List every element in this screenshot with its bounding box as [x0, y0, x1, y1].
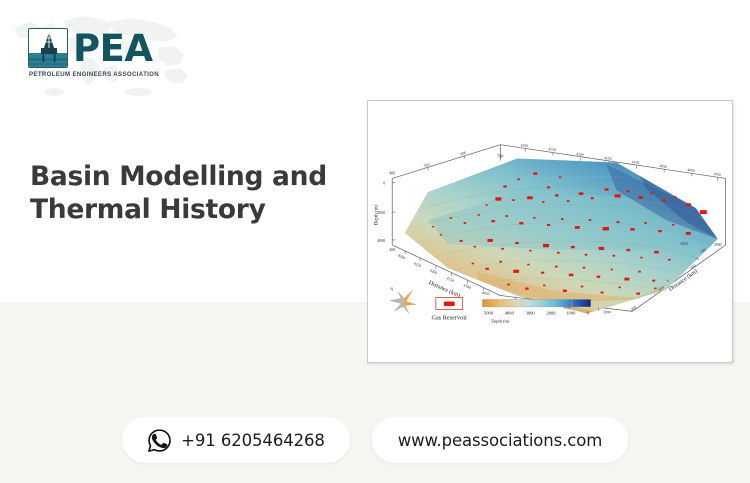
logo-wordmark: PEA: [73, 30, 153, 67]
basin-depth-surface-figure[interactable]: 0 2000 4000 Depth (m) 400 400 700 500 60…: [367, 100, 733, 363]
right-corner-label-mid: 3950: [680, 242, 688, 246]
whatsapp-icon: [147, 428, 172, 453]
svg-text:N: N: [390, 287, 393, 292]
website-url-text: www.peassociations.com: [398, 431, 603, 450]
page-title-line-2: Thermal History: [30, 193, 360, 226]
website-link-button[interactable]: www.peassociations.com: [372, 417, 628, 463]
offshore-oil-rig-icon: [28, 28, 68, 68]
z-axis-label: Depth (m): [374, 205, 379, 226]
page-title: Basin Modelling and Thermal History: [30, 160, 360, 226]
svg-text:3900: 3900: [603, 310, 611, 315]
gas-reservoir-legend: Gas Reservoir: [431, 297, 467, 321]
svg-text:4000: 4000: [377, 238, 385, 243]
right-corner-label-top: 3900: [714, 243, 722, 247]
svg-text:0: 0: [383, 180, 385, 185]
back-corner-label: 700: [497, 154, 503, 159]
z-top-corner-label: 400: [389, 170, 395, 175]
svg-text:2000: 2000: [546, 310, 556, 315]
surface-plot-svg: 0 2000 4000 Depth (m) 400 400 700 500 60…: [368, 101, 732, 362]
svg-text:5000: 5000: [484, 310, 494, 315]
svg-text:3000: 3000: [526, 310, 536, 315]
page-title-line-1: Basin Modelling and: [30, 160, 360, 193]
svg-text:4000: 4000: [505, 310, 515, 315]
logo-subtitle: PETROLEUM ENGINEERS ASSOCIATION: [29, 71, 178, 78]
colorbar-label: Depth (m): [491, 318, 510, 323]
svg-text:1000: 1000: [566, 310, 576, 315]
z-bottom-corner-label: 400: [389, 247, 395, 252]
slide-canvas: PEA PETROLEUM ENGINEERS ASSOCIATION Basi…: [0, 0, 750, 483]
logo-row: PEA: [28, 27, 178, 69]
brand-logo[interactable]: PEA PETROLEUM ENGINEERS ASSOCIATION: [28, 27, 178, 85]
phone-contact-button[interactable]: +91 6205464268: [122, 417, 350, 463]
gas-reservoir-legend-label: Gas Reservoir: [431, 314, 467, 321]
phone-number-text: +91 6205464268: [181, 431, 325, 450]
